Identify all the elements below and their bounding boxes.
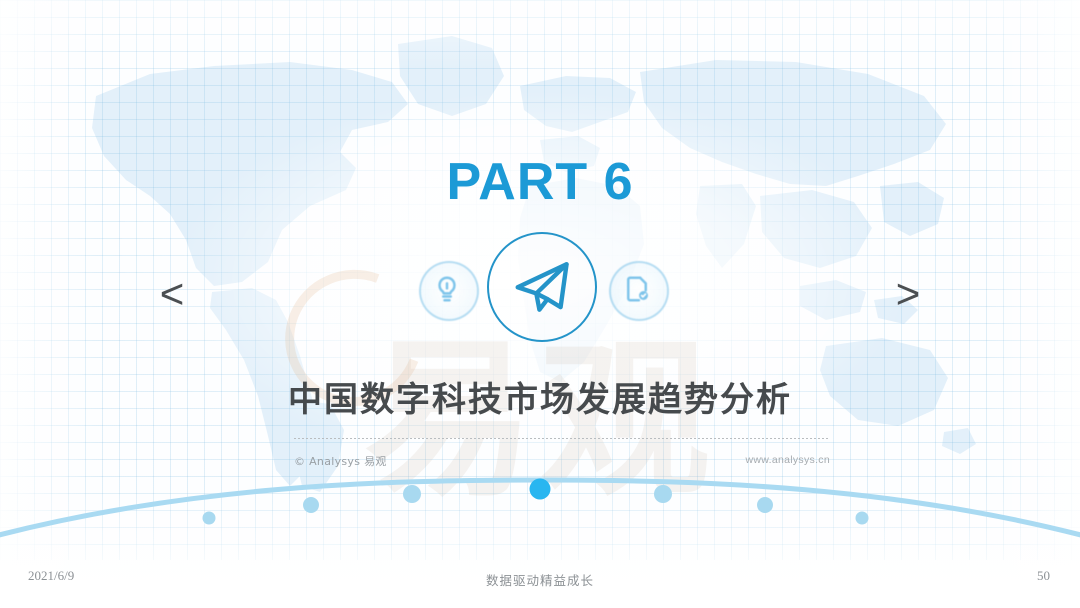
progress-arc-dot[interactable] [856,512,869,525]
lightbulb-icon [419,261,475,317]
part-label: PART 6 [0,152,1080,212]
slide-canvas: 易观 PART 6 [0,0,1080,608]
progress-arc-dot[interactable] [654,485,672,503]
progress-arc-dot[interactable] [757,497,773,513]
progress-arc-dot[interactable] [303,497,319,513]
document-check-icon [609,261,665,317]
progress-arc-dot[interactable] [403,485,421,503]
next-slide-arrow[interactable]: > [886,272,930,318]
progress-arc [0,462,1080,542]
page-title: 中国数字科技市场发展趋势分析 [0,372,1080,421]
paper-plane-icon [487,232,597,342]
footer-tagline: 数据驱动精益成长 [0,570,1080,589]
progress-arc-dot[interactable] [530,479,551,500]
footer-page-number: 50 [1037,568,1050,584]
icon-cluster [415,232,665,350]
title-divider [294,438,830,439]
progress-arc-dot[interactable] [203,512,216,525]
progress-arc-svg [0,462,1080,542]
previous-slide-arrow[interactable]: < [150,272,194,318]
slide-footer: 2021/6/9 数据驱动精益成长 50 [0,568,1080,594]
